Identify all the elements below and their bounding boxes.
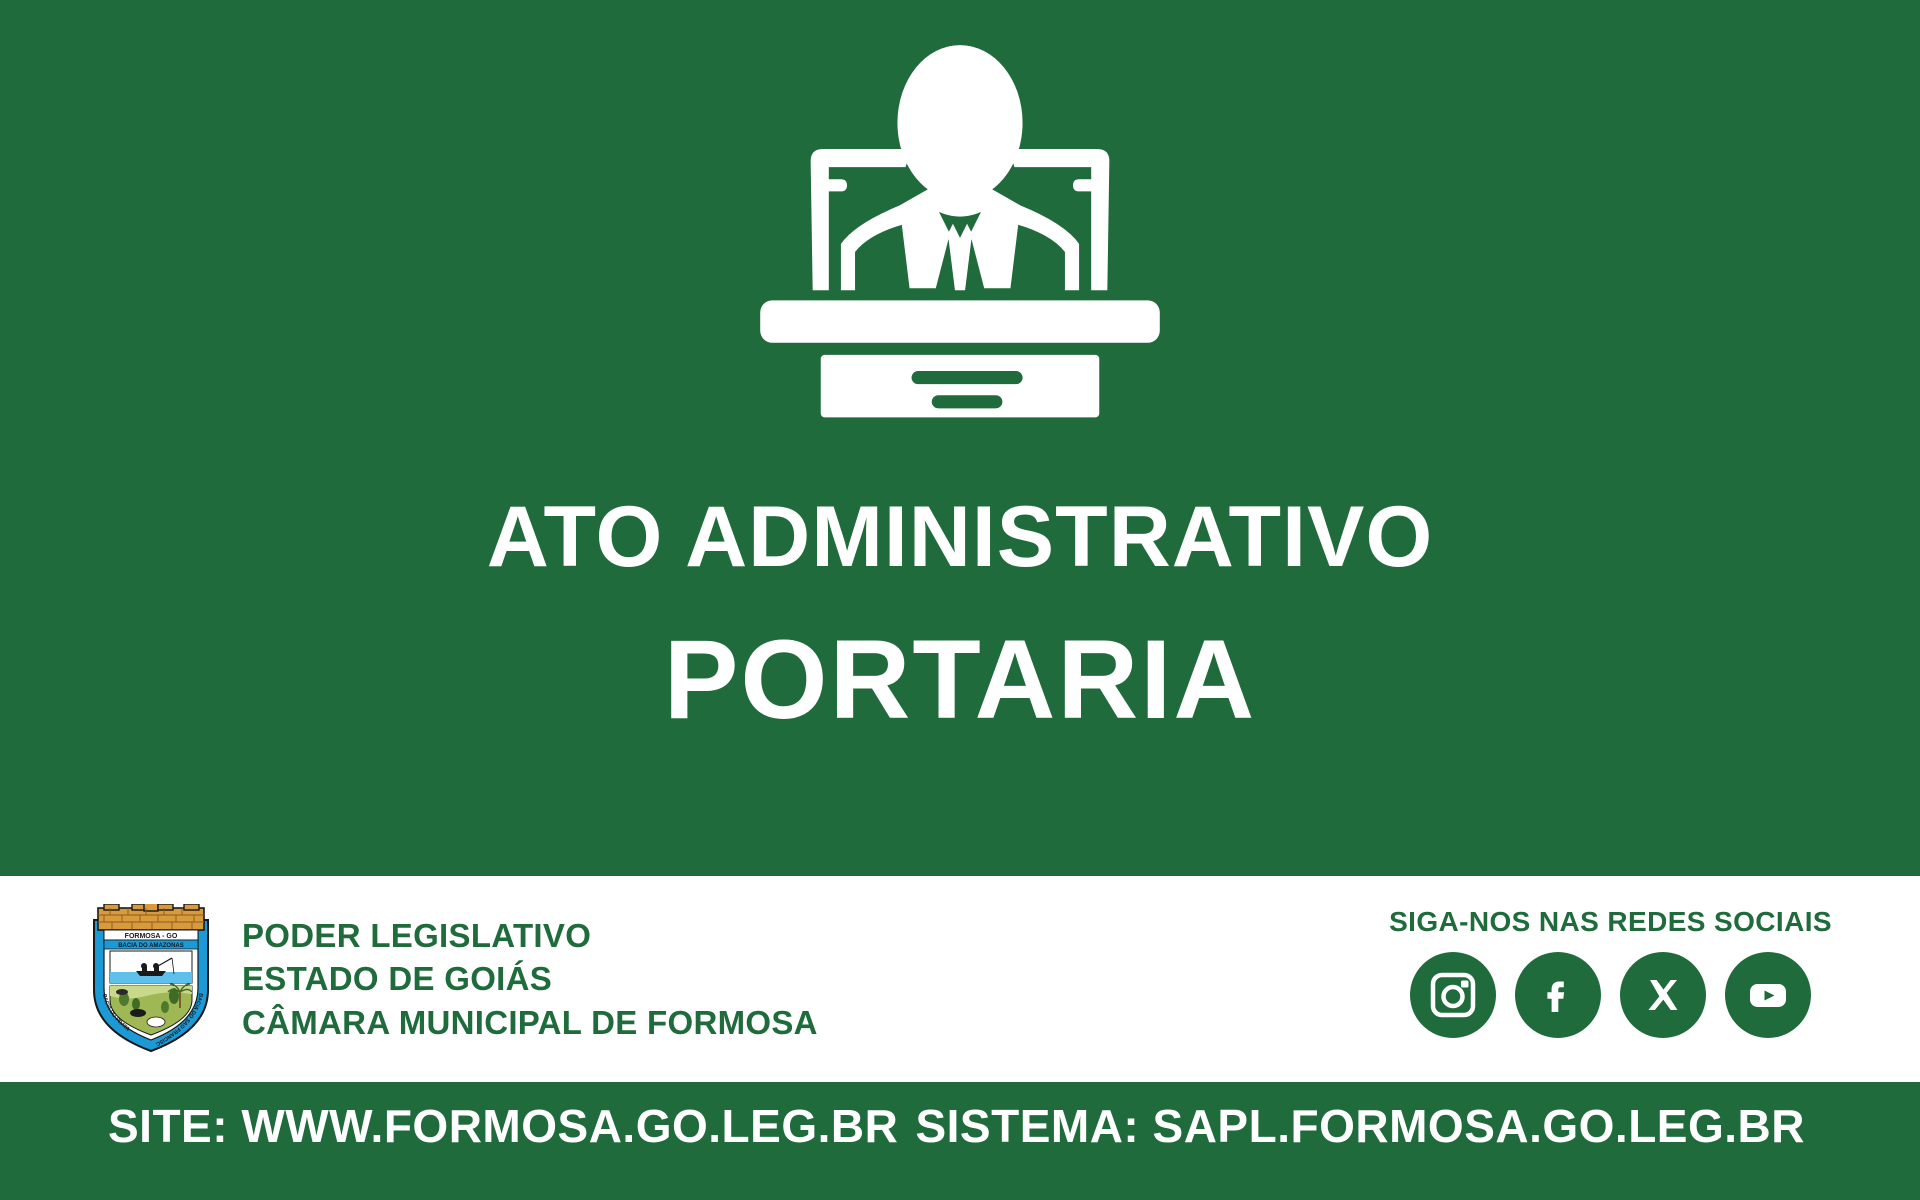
site-url[interactable]: SITE: WWW.FORMOSA.GO.LEG.BR (108, 1099, 898, 1153)
brand-block: FORMOSA - GO BACIA DO AMAZONAS (88, 904, 818, 1054)
speaker-at-podium-icon (758, 36, 1162, 480)
system-url[interactable]: SISTEMA: SAPL.FORMOSA.GO.LEG.BR (915, 1099, 1805, 1153)
instagram-icon[interactable] (1410, 952, 1496, 1038)
hero-section: ATO ADMINISTRATIVO PORTARIA (0, 0, 1920, 876)
footer-band: FORMOSA - GO BACIA DO AMAZONAS (0, 876, 1920, 1082)
facebook-icon[interactable] (1515, 952, 1601, 1038)
page-title: ATO ADMINISTRATIVO (487, 494, 1433, 580)
bottom-bar: SITE: WWW.FORMOSA.GO.LEG.BR SISTEMA: SAP… (0, 1082, 1920, 1200)
crest-band-top-text: FORMOSA - GO (125, 933, 178, 940)
social-block: SIGA-NOS NAS REDES SOCIAIS (1389, 906, 1832, 1038)
announcement-card: ATO ADMINISTRATIVO PORTARIA (0, 0, 1920, 1200)
formosa-coat-of-arms: FORMOSA - GO BACIA DO AMAZONAS (88, 904, 214, 1054)
crest-band-second-text: BACIA DO AMAZONAS (118, 943, 184, 949)
social-heading: SIGA-NOS NAS REDES SOCIAIS (1389, 906, 1832, 938)
brand-line-2: ESTADO DE GOIÁS (242, 957, 818, 1001)
social-icon-row (1410, 952, 1811, 1038)
x-twitter-icon[interactable] (1620, 952, 1706, 1038)
page-subtitle: PORTARIA (664, 624, 1257, 736)
brand-line-3: CÂMARA MUNICIPAL DE FORMOSA (242, 1001, 818, 1045)
brand-line-1: PODER LEGISLATIVO (242, 914, 818, 958)
youtube-icon[interactable] (1725, 952, 1811, 1038)
brand-text-block: PODER LEGISLATIVO ESTADO DE GOIÁS CÂMARA… (242, 914, 818, 1045)
